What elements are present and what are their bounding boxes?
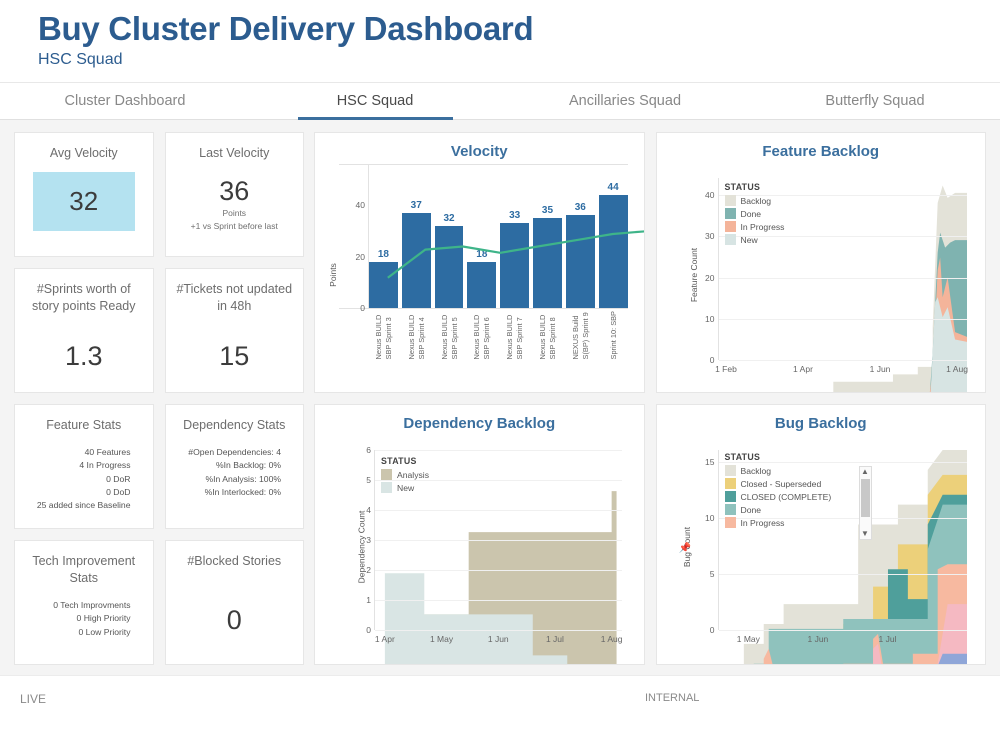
- last-velocity-unit: Points: [222, 207, 246, 219]
- y-tick: 5: [366, 475, 371, 485]
- kpi-row-3: Feature Stats 40 Features 4 In Progress …: [14, 404, 304, 529]
- legend-item[interactable]: Backlog: [725, 465, 832, 476]
- legend-item[interactable]: New: [725, 234, 785, 245]
- card-title: #Blocked Stories: [187, 553, 281, 570]
- y-tick: 15: [705, 457, 714, 467]
- tech-stats-list: 0 Tech Improvments 0 High Priority 0 Low…: [23, 599, 145, 639]
- chart-dependency-backlog[interactable]: Dependency Backlog Dependency Count 0123…: [314, 404, 645, 665]
- tab-label: Butterfly Squad: [825, 93, 924, 109]
- x-tick: 1 Jun: [870, 364, 891, 374]
- legend-label: New: [741, 235, 758, 245]
- tickets-not-updated-value: 15: [219, 341, 249, 372]
- velocity-y-axis-label: Points: [328, 263, 338, 287]
- kpi-column: Avg Velocity 32 Last Velocity 36 Points …: [14, 132, 304, 665]
- legend-label: CLOSED (COMPLETE): [741, 492, 832, 502]
- dependency-backlog-plot-area: Dependency Count 0123456 1 Apr1 May1 Jun…: [323, 436, 636, 658]
- y-tick: 3: [366, 535, 371, 545]
- stat-line: %In Analysis: 100%: [174, 473, 282, 486]
- footer-live-status: LIVE: [20, 692, 46, 706]
- feature-backlog-legend: STATUS BacklogDoneIn ProgressNew: [725, 182, 785, 247]
- legend-item[interactable]: New: [381, 482, 429, 493]
- x-tick: 1 May: [430, 634, 453, 644]
- stat-line: 25 added since Baseline: [23, 499, 131, 512]
- legend-label: Closed - Superseded: [741, 479, 822, 489]
- legend-item[interactable]: Closed - Superseded: [725, 478, 832, 489]
- y-tick: 10: [705, 314, 714, 324]
- y-tick: 40: [705, 190, 714, 200]
- card-dependency-stats[interactable]: Dependency Stats #Open Dependencies: 4 %…: [165, 404, 305, 529]
- x-tick: 1 Aug: [601, 634, 623, 644]
- chart-title: Bug Backlog: [665, 415, 978, 432]
- x-tick: 1 Feb: [715, 364, 737, 374]
- chart-title: Velocity: [323, 143, 636, 160]
- footer: LIVE INTERNAL: [0, 675, 1000, 732]
- y-tick: 1: [366, 595, 371, 605]
- legend-swatch: [725, 504, 736, 515]
- y-tick: 5: [710, 569, 715, 579]
- chart-title: Feature Backlog: [665, 143, 978, 160]
- legend-label: Done: [741, 505, 762, 515]
- legend-swatch: [725, 465, 736, 476]
- chart-column: Velocity Points 1837321833353644 02040 N…: [314, 132, 986, 665]
- page-subtitle: HSC Squad: [38, 51, 1000, 69]
- card-tickets-not-updated[interactable]: #Tickets not updated in 48h 15: [165, 268, 305, 393]
- tab-cluster-dashboard[interactable]: Cluster Dashboard: [0, 83, 250, 119]
- y-tick: 10: [705, 513, 714, 523]
- legend-item[interactable]: Done: [725, 208, 785, 219]
- chevron-up-icon[interactable]: ▲: [861, 467, 869, 477]
- chart-feature-backlog[interactable]: Feature Backlog Feature Count 010203040 …: [656, 132, 987, 393]
- stat-line: 4 In Progress: [23, 459, 131, 472]
- legend-swatch: [381, 482, 392, 493]
- legend-item[interactable]: In Progress: [725, 517, 832, 528]
- card-last-velocity[interactable]: Last Velocity 36 Points +1 vs Sprint bef…: [165, 132, 305, 257]
- x-tick: 1 Jun: [488, 634, 509, 644]
- y-tick: 2: [366, 565, 371, 575]
- y-tick: 0: [366, 625, 371, 635]
- velocity-plot-area: Points 1837321833353644 02040 Nexus BUIL…: [323, 164, 636, 386]
- legend-title: STATUS: [725, 182, 785, 192]
- card-sprints-ready[interactable]: #Sprints worth of story points Ready 1.3: [14, 268, 154, 393]
- velocity-x-label: Nexus BUILDSBP Sprint 8: [533, 308, 562, 359]
- legend-label: In Progress: [741, 518, 785, 528]
- feature-stats-list: 40 Features 4 In Progress 0 DoR 0 DoD 25…: [23, 446, 145, 513]
- card-title: Dependency Stats: [183, 417, 285, 434]
- stat-line: 0 DoR: [23, 473, 131, 486]
- x-tick: 1 Jul: [878, 634, 896, 644]
- dependency-backlog-y-axis-label: Dependency Count: [356, 511, 366, 584]
- velocity-x-label: Nexus BUILDSBP Sprint 3: [369, 308, 398, 359]
- legend-swatch: [725, 517, 736, 528]
- velocity-x-label: Nexus BUILDSBP Sprint 4: [402, 308, 431, 359]
- card-title: Last Velocity: [199, 145, 269, 162]
- y-tick: 0: [360, 303, 365, 313]
- card-feature-stats[interactable]: Feature Stats 40 Features 4 In Progress …: [14, 404, 154, 529]
- y-tick: 40: [356, 200, 365, 210]
- legend-title: STATUS: [381, 456, 429, 466]
- chart-velocity[interactable]: Velocity Points 1837321833353644 02040 N…: [314, 132, 645, 393]
- y-tick: 4: [366, 505, 371, 515]
- blocked-stories-value: 0: [227, 605, 242, 636]
- tab-hsc-squad[interactable]: HSC Squad: [250, 83, 500, 119]
- page-title: Buy Cluster Delivery Dashboard: [38, 8, 1000, 49]
- y-tick: 0: [710, 355, 715, 365]
- velocity-x-label: Nexus BUILDSBP Sprint 5: [435, 308, 464, 359]
- pin-icon: 📌: [679, 543, 691, 554]
- kpi-row-1: Avg Velocity 32 Last Velocity 36 Points …: [14, 132, 304, 257]
- dependency-stats-list: #Open Dependencies: 4 %In Backlog: 0% %I…: [174, 446, 296, 499]
- card-title: #Tickets not updated in 48h: [174, 281, 296, 315]
- feature-backlog-y-axis-label: Feature Count: [689, 248, 699, 302]
- legend-swatch: [725, 221, 736, 232]
- velocity-x-label: Nexus BUILDSBP Sprint 6: [467, 308, 496, 359]
- x-tick: 1 Apr: [793, 364, 813, 374]
- stat-line: 0 Tech Improvments: [23, 599, 131, 612]
- chart-title: Dependency Backlog: [323, 415, 636, 432]
- stat-line: %In Backlog: 0%: [174, 459, 282, 472]
- legend-swatch: [725, 478, 736, 489]
- x-tick: 1 Apr: [375, 634, 395, 644]
- last-velocity-delta: +1 vs Sprint before last: [191, 220, 278, 232]
- scrollbar-thumb[interactable]: [861, 479, 870, 517]
- velocity-x-labels: Nexus BUILDSBP Sprint 3Nexus BUILDSBP Sp…: [369, 308, 628, 359]
- legend-label: Done: [741, 209, 762, 219]
- stat-line: 0 DoD: [23, 486, 131, 499]
- tab-label: HSC Squad: [337, 93, 414, 109]
- card-title: Tech Improvement Stats: [23, 553, 145, 587]
- avg-velocity-value: 32: [69, 186, 98, 217]
- x-tick: 1 Jul: [546, 634, 564, 644]
- bug-backlog-legend: STATUS BacklogClosed - SupersededCLOSED …: [725, 452, 832, 530]
- y-tick: 20: [705, 273, 714, 283]
- y-tick: 20: [356, 252, 365, 262]
- velocity-x-label: Nexus BUILDSBP Sprint 7: [500, 308, 529, 359]
- feature-backlog-plot-area: Feature Count 010203040 1 Feb1 Apr1 Jun1…: [665, 164, 978, 386]
- legend-swatch: [381, 469, 392, 480]
- tab-label: Ancillaries Squad: [569, 93, 681, 109]
- tab-label: Cluster Dashboard: [65, 93, 186, 109]
- legend-label: New: [397, 483, 414, 493]
- stat-line: 0 High Priority: [23, 612, 131, 625]
- legend-label: Backlog: [741, 196, 772, 206]
- sprints-ready-value: 1.3: [65, 341, 103, 372]
- x-tick: 1 Aug: [946, 364, 968, 374]
- velocity-x-label: NEXUS BuildS(BP) Sprint 9: [566, 308, 595, 359]
- card-tech-improvement-stats[interactable]: Tech Improvement Stats 0 Tech Improvment…: [14, 540, 154, 665]
- legend-label: In Progress: [741, 222, 785, 232]
- legend-item[interactable]: In Progress: [725, 221, 785, 232]
- stat-line: #Open Dependencies: 4: [174, 446, 282, 459]
- legend-item[interactable]: Backlog: [725, 195, 785, 206]
- stat-line: %In Interlocked: 0%: [174, 486, 282, 499]
- bug-backlog-plot-area: Bug Count 📌 051015 1 May1 Jun1 Jul STATU…: [665, 436, 978, 658]
- card-avg-velocity[interactable]: Avg Velocity 32: [14, 132, 154, 257]
- x-tick: 1 Jun: [807, 634, 828, 644]
- legend-swatch: [725, 234, 736, 245]
- tab-bar: Cluster Dashboard HSC Squad Ancillaries …: [0, 82, 1000, 120]
- velocity-x-label: Sprint 10: SBP: [599, 308, 628, 359]
- y-tick: 0: [710, 625, 715, 635]
- legend-item[interactable]: CLOSED (COMPLETE): [725, 491, 832, 502]
- legend-swatch: [725, 208, 736, 219]
- last-velocity-value: 36: [219, 176, 249, 207]
- legend-swatch: [725, 491, 736, 502]
- card-title: Avg Velocity: [50, 145, 118, 162]
- card-title: #Sprints worth of story points Ready: [23, 281, 145, 315]
- dependency-backlog-legend: STATUS AnalysisNew: [381, 456, 429, 495]
- chevron-down-icon[interactable]: ▼: [861, 529, 869, 539]
- dashboard-body: Avg Velocity 32 Last Velocity 36 Points …: [0, 120, 1000, 675]
- avg-velocity-highlight: 32: [33, 172, 135, 231]
- footer-classification: INTERNAL: [645, 692, 699, 704]
- legend-label: Analysis: [397, 470, 429, 480]
- tab-ancillaries-squad[interactable]: Ancillaries Squad: [500, 83, 750, 119]
- stat-line: 0 Low Priority: [23, 626, 131, 639]
- card-title: Feature Stats: [46, 417, 121, 434]
- legend-swatch: [725, 195, 736, 206]
- y-tick: 6: [366, 445, 371, 455]
- x-tick: 1 May: [737, 634, 760, 644]
- y-tick: 30: [705, 231, 714, 241]
- chart-row-1: Velocity Points 1837321833353644 02040 N…: [314, 132, 986, 393]
- kpi-row-2: #Sprints worth of story points Ready 1.3…: [14, 268, 304, 393]
- legend-title: STATUS: [725, 452, 832, 462]
- tab-butterfly-squad[interactable]: Butterfly Squad: [750, 83, 1000, 119]
- legend-item[interactable]: Done: [725, 504, 832, 515]
- card-blocked-stories[interactable]: #Blocked Stories 0: [165, 540, 305, 665]
- stat-line: 40 Features: [23, 446, 131, 459]
- chart-row-2: Dependency Backlog Dependency Count 0123…: [314, 404, 986, 665]
- kpi-row-4: Tech Improvement Stats 0 Tech Improvment…: [14, 540, 304, 665]
- legend-label: Backlog: [741, 466, 772, 476]
- legend-scrollbar[interactable]: ▲ ▼: [859, 466, 872, 540]
- legend-item[interactable]: Analysis: [381, 469, 429, 480]
- chart-bug-backlog[interactable]: Bug Backlog Bug Count 📌 051015 1 May1 Ju…: [656, 404, 987, 665]
- dashboard-header: Buy Cluster Delivery Dashboard HSC Squad: [0, 0, 1000, 69]
